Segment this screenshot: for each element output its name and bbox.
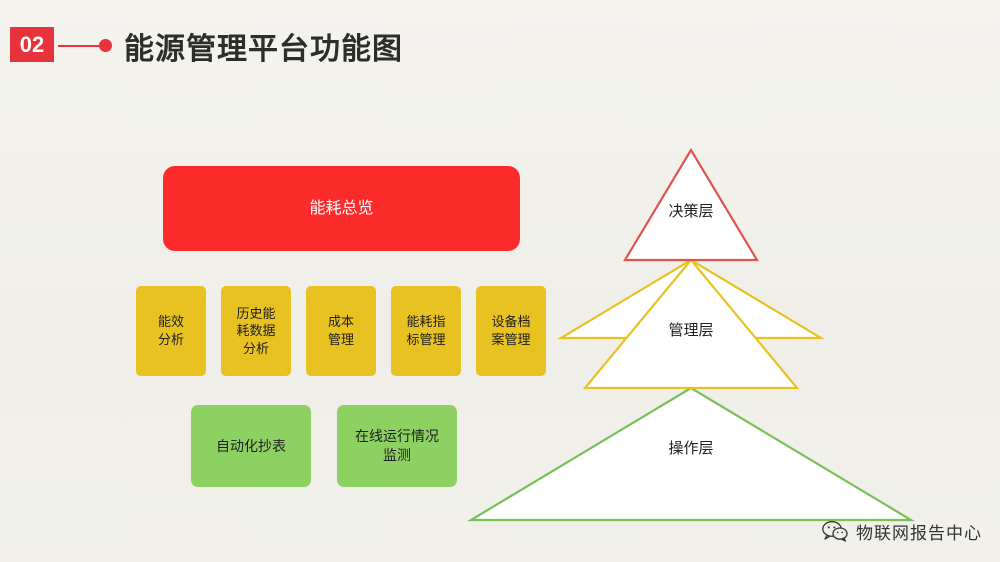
block-efficiency-analysis[interactable]: 能效分析: [136, 286, 206, 376]
block-automatic-meter-reading[interactable]: 自动化抄表: [191, 405, 311, 487]
pyramid-label-management: 管理层: [631, 319, 751, 340]
block-historical-data-analysis[interactable]: 历史能耗数据分析: [221, 286, 291, 376]
block-consumption-index-management[interactable]: 能耗指标管理: [391, 286, 461, 376]
header-dot: [99, 39, 112, 52]
wechat-icon: [822, 521, 848, 542]
pyramid-label-decision: 决策层: [631, 200, 751, 221]
section-number-badge: 02: [10, 27, 54, 62]
footer-text: 物联网报告中心: [856, 519, 982, 544]
block-online-operation-monitoring[interactable]: 在线运行情况监测: [337, 405, 457, 487]
pyramid-diagram: 决策层 管理层 操作层: [455, 132, 955, 532]
block-cost-management[interactable]: 成本管理: [306, 286, 376, 376]
pyramid-label-operation: 操作层: [631, 437, 751, 458]
slide-canvas: 02 能源管理平台功能图 能耗总览 能效分析 历史能耗数据分析 成本管理 能耗指…: [0, 0, 1000, 562]
footer-watermark: 物联网报告中心: [822, 519, 982, 544]
header-rule: [58, 45, 103, 47]
page-title: 能源管理平台功能图: [124, 24, 403, 68]
